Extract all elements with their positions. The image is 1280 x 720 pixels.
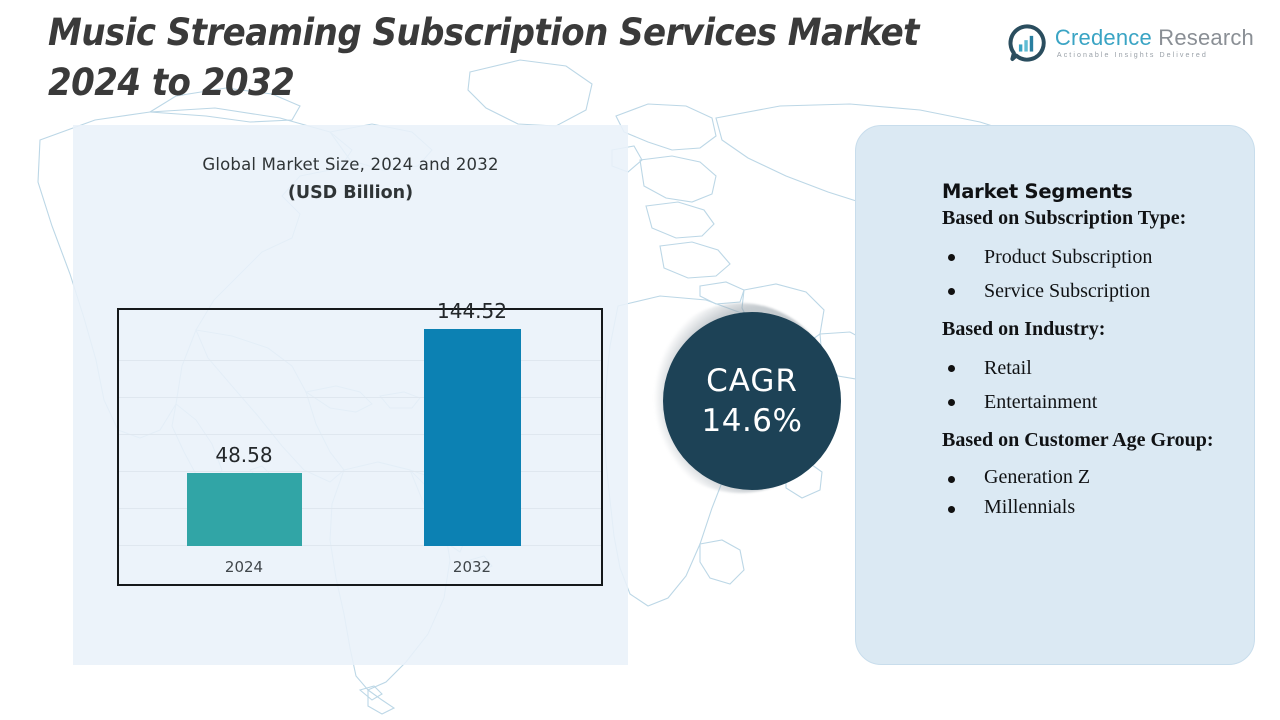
segment-list-item: Generation Z — [942, 462, 1242, 492]
bullet-icon — [948, 506, 955, 513]
segment-item-label: Retail — [984, 357, 1032, 379]
segment-item-label: Product Subscription — [984, 246, 1152, 268]
market-segments-title: Market Segments — [942, 180, 1242, 203]
segment-list-item: Millennials — [942, 492, 1242, 522]
logo-name-secondary: Research — [1158, 25, 1254, 50]
segment-item-label: Entertainment — [984, 391, 1097, 413]
gridline — [119, 434, 601, 435]
segment-item-label: Service Subscription — [984, 280, 1150, 302]
segment-item-label: Millennials — [984, 496, 1075, 518]
segment-item-label: Generation Z — [984, 466, 1090, 488]
bar-value-label: 48.58 — [164, 443, 324, 467]
segment-group-list: Generation ZMillennials — [942, 462, 1242, 522]
chart-title-block: Global Market Size, 2024 and 2032 (USD B… — [73, 155, 628, 203]
cagr-value: 14.6% — [702, 403, 803, 439]
bullet-icon — [948, 254, 955, 261]
chart-title-line1: Global Market Size, 2024 and 2032 — [73, 155, 628, 174]
gridline — [119, 360, 601, 361]
market-segments-groups: Based on Subscription Type:Product Subsc… — [942, 204, 1242, 522]
bar-chart-plot: 48.582024144.522032 — [117, 308, 603, 586]
bullet-icon — [948, 476, 955, 483]
cagr-badge: CAGR 14.6% — [663, 312, 841, 490]
segment-group-heading: Based on Subscription Type: — [942, 204, 1242, 233]
brand-logo: Credence Research Actionable Insights De… — [1008, 24, 1254, 62]
segment-list-item: Service Subscription — [942, 274, 1242, 308]
segment-group-heading: Based on Customer Age Group: — [942, 426, 1242, 455]
segment-list-item: Entertainment — [942, 385, 1242, 419]
gridline — [119, 397, 601, 398]
page-title: Music Streaming Subscription Services Ma… — [48, 8, 931, 108]
logo-tagline: Actionable Insights Delivered — [1057, 52, 1254, 59]
segment-group-list: Product SubscriptionService Subscription — [942, 240, 1242, 308]
bar-chart-circle-icon — [1008, 24, 1046, 62]
bullet-icon — [948, 365, 955, 372]
logo-name-primary: Credence — [1055, 25, 1152, 50]
cagr-label: CAGR — [706, 363, 798, 399]
bullet-icon — [948, 399, 955, 406]
segment-group-list: RetailEntertainment — [942, 351, 1242, 419]
bar-2024 — [187, 473, 302, 546]
bar-2032 — [424, 329, 521, 546]
market-segments-content: Market Segments Based on Subscription Ty… — [942, 180, 1242, 529]
x-tick-label: 2024 — [164, 558, 324, 576]
segment-group-heading: Based on Industry: — [942, 315, 1242, 344]
bullet-icon — [948, 288, 955, 295]
segment-list-item: Product Subscription — [942, 240, 1242, 274]
segment-list-item: Retail — [942, 351, 1242, 385]
chart-title-line2: (USD Billion) — [73, 183, 628, 203]
gridline — [119, 471, 601, 472]
x-tick-label: 2032 — [392, 558, 552, 576]
bar-value-label: 144.52 — [392, 299, 552, 323]
